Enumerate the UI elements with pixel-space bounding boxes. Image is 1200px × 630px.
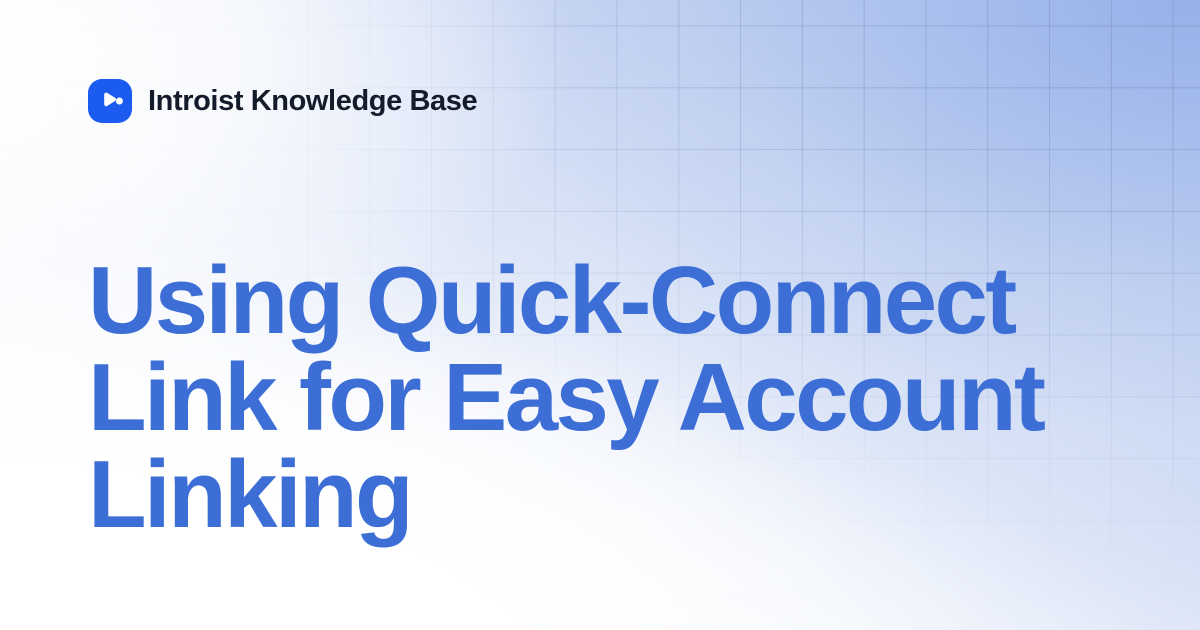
brand-header: Introist Knowledge Base <box>88 79 477 123</box>
page-title-line-1: Using Quick-Connect <box>88 252 1098 349</box>
play-dot-icon <box>88 79 132 123</box>
page-title: Using Quick-Connect Link for Easy Accoun… <box>88 252 1098 543</box>
page-title-line-2: Link for Easy Account <box>88 349 1098 446</box>
brand-title: Introist Knowledge Base <box>148 87 477 116</box>
share-card-canvas: Introist Knowledge Base Using Quick-Conn… <box>0 0 1200 630</box>
page-title-line-3: Linking <box>88 446 1098 543</box>
